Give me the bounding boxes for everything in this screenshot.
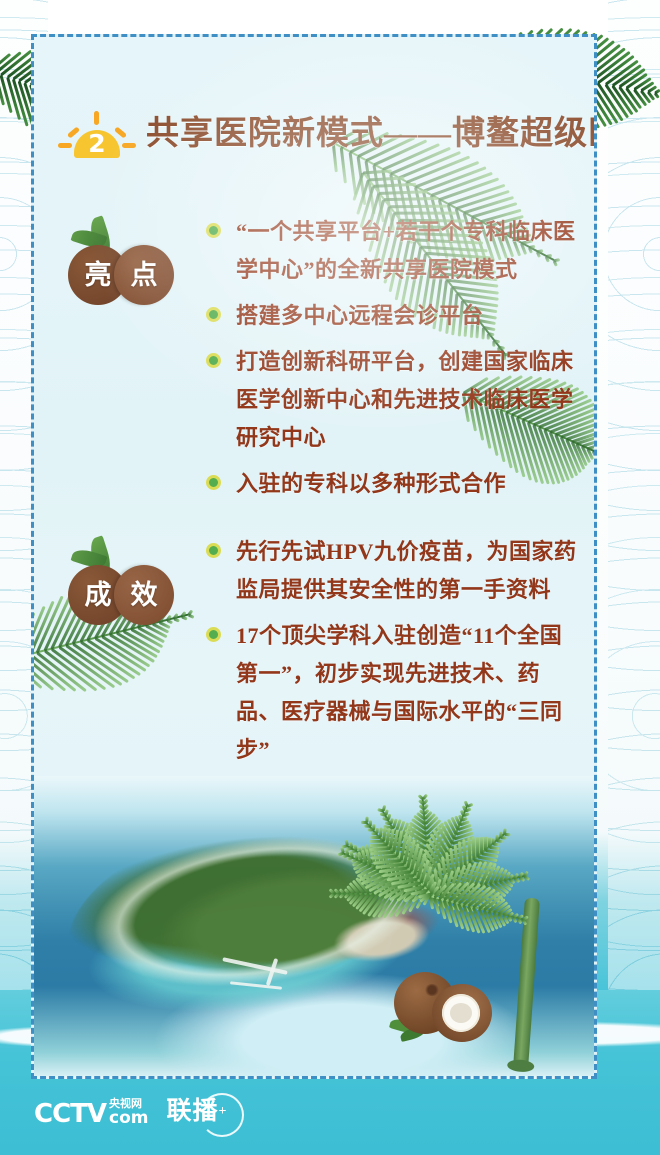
sun-ray-right (122, 143, 136, 148)
list-item: “一个共享平台+若干个专科临床医学中心”的全新共享医院模式 (204, 213, 582, 289)
badge-char-2: 点 (114, 245, 174, 305)
poster-root: 2 共享医院新模式——博鳌超级医院 亮 点 “一个共享平台+若干个专科临床医学中… (0, 0, 660, 1155)
section-badge-results: 成 效 (68, 557, 184, 631)
dashed-content-card: 2 共享医院新模式——博鳌超级医院 亮 点 “一个共享平台+若干个专科临床医学中… (31, 34, 597, 1079)
section-badge-highlights: 亮 点 (68, 237, 184, 311)
cctv-logo: CCTV 央视网 com (34, 1098, 149, 1127)
page-title: 共享医院新模式——博鳌超级医院 (146, 115, 597, 153)
list-item-text: 入驻的专科以多种形式合作 (236, 471, 506, 496)
list-item: 入驻的专科以多种形式合作 (204, 465, 582, 503)
bullet-dot-icon (206, 353, 221, 368)
bullet-list-highlights: “一个共享平台+若干个专科临床医学中心”的全新共享医院模式 搭建多中心远程会诊平… (204, 213, 582, 511)
bullet-dot-icon (206, 543, 221, 558)
island-aerial-photo (34, 776, 594, 1076)
list-item-text: 搭建多中心远程会诊平台 (236, 303, 484, 328)
badge-char-2: 效 (114, 565, 174, 625)
wave-pattern-right (608, 0, 660, 1155)
list-item: 17个顶尖学科入驻创造“11个全国第一”，初步实现先进技术、药品、医疗器械与国际… (204, 617, 582, 769)
bullet-dot-icon (206, 223, 221, 238)
cctv-domain: com (109, 1110, 148, 1127)
bullet-dot-icon (206, 475, 221, 490)
sun-ray-top (94, 111, 99, 125)
list-item: 先行先试HPV九价疫苗，为国家药监局提供其安全性的第一手资料 (204, 533, 582, 609)
sun-ray-left (58, 143, 72, 148)
list-item-text: 打造创新科研平台，创建国家临床医学创新中心和先进技术临床医学研究中心 (236, 349, 574, 450)
title-row: 2 共享医院新模式——博鳌超级医院 (58, 99, 578, 169)
palm-frond (429, 890, 525, 923)
bullet-dot-icon (206, 307, 221, 322)
bullet-dot-icon (206, 627, 221, 642)
sun-number-icon: 2 (58, 107, 136, 161)
list-item: 打造创新科研平台，创建国家临床医学创新中心和先进技术临床医学研究中心 (204, 343, 582, 457)
cctv-wordmark: CCTV (34, 1101, 106, 1127)
coconut-illustration (390, 964, 502, 1048)
coconut-flesh (442, 994, 480, 1032)
lianbo-ring-icon (200, 1093, 244, 1137)
list-item-text: “一个共享平台+若干个专科临床医学中心”的全新共享医院模式 (236, 219, 576, 282)
footer-logos: CCTV 央视网 com 联播 + (34, 1091, 228, 1133)
lianbo-logo: 联播 + (167, 1099, 228, 1125)
list-item-text: 先行先试HPV九价疫苗，为国家药监局提供其安全性的第一手资料 (236, 539, 576, 602)
section-number: 2 (74, 131, 120, 157)
list-item-text: 17个顶尖学科入驻创造“11个全国第一”，初步实现先进技术、药品、医疗器械与国际… (236, 623, 563, 762)
list-item: 搭建多中心远程会诊平台 (204, 297, 582, 335)
